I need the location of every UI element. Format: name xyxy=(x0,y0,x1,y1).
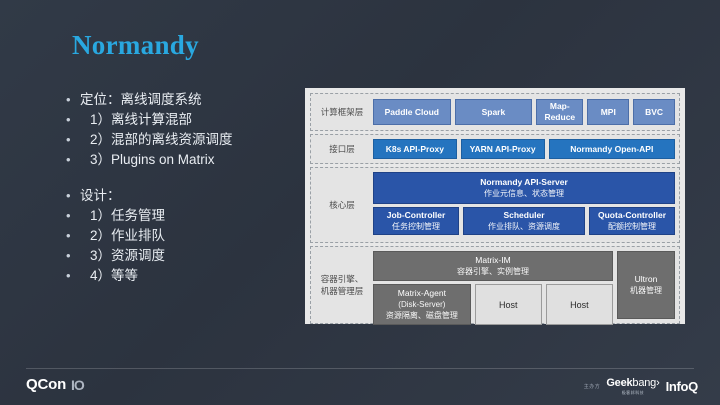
diagram-box-normandy-api-server: Normandy API-Server 作业元信息、状态管理 xyxy=(373,172,675,204)
box-label: K8s API-Proxy xyxy=(386,144,444,155)
box-label: Map-Reduce xyxy=(539,101,580,123)
diagram-box-matrix-im: Matrix-IM 容器引擎、实例管理 xyxy=(373,251,613,281)
box-sublabel: 作业元信息、状态管理 xyxy=(484,188,564,199)
bullet-dot-icon: • xyxy=(66,226,80,246)
box-label: Paddle Cloud xyxy=(385,107,439,118)
geekbang-wordmark-suffix: bang› xyxy=(632,377,659,389)
bullet-group-positioning: • 定位：离线调度系统 • 1）离线计算混部 • 2）混部的离线资源调度 • 3… xyxy=(66,90,306,170)
list-item: • 2）混部的离线资源调度 xyxy=(66,130,306,150)
box-sublabel: 任务控制管理 xyxy=(392,221,440,232)
box-label: Ultron xyxy=(635,274,658,285)
bullet-dot-icon: • xyxy=(66,266,80,286)
bullet-group-design: • 设计： • 1）任务管理 • 2）作业排队 • 3）资源调度 • 4）等等 xyxy=(66,186,306,286)
diagram-box-paddle-cloud: Paddle Cloud xyxy=(373,99,451,125)
diagram-layer-interface: 接口层 K8s API-Proxy YARN API-Proxy Normand… xyxy=(310,134,680,164)
bullet-dot-icon: • xyxy=(66,246,80,266)
diagram-box-job-controller: Job-Controller 任务控制管理 xyxy=(373,207,459,235)
box-label: Job-Controller xyxy=(387,210,446,221)
bullet-dot-icon: • xyxy=(66,130,80,150)
list-item: • 3）资源调度 xyxy=(66,246,306,266)
sponsor-logos: 主办方 Geekbang› 极客邦科技 InfoQ xyxy=(584,377,698,396)
box-label: BVC xyxy=(645,107,663,118)
layer-label: 计算框架层 xyxy=(311,94,373,130)
list-item: • 1）离线计算混部 xyxy=(66,110,306,130)
list-item-label: 1）任务管理 xyxy=(80,206,165,226)
qcon-wordmark: QCon xyxy=(26,376,66,393)
geekbang-sublabel: 极客邦科技 xyxy=(622,390,645,396)
box-label: Normandy Open-API xyxy=(570,144,653,155)
diagram-layer-compute-framework: 计算框架层 Paddle Cloud Spark Map-Reduce MPI xyxy=(310,93,680,131)
list-item: • 4）等等 xyxy=(66,266,306,286)
list-item: • 定位：离线调度系统 xyxy=(66,90,306,110)
box-sublabel: 配额控制管理 xyxy=(608,221,656,232)
layer-label-line2: 机器管理层 xyxy=(321,286,364,296)
bullet-dot-icon: • xyxy=(66,206,80,226)
diagram-box-bvc: BVC xyxy=(633,99,675,125)
bullet-dot-icon: • xyxy=(66,90,80,110)
diagram-box-quota-controller: Quota-Controller 配额控制管理 xyxy=(589,207,675,235)
list-item-label: 3）资源调度 xyxy=(80,246,165,266)
geekbang-wordmark: Geek xyxy=(606,377,632,389)
list-item-label: 定位：离线调度系统 xyxy=(80,90,202,110)
box-sublabel: 资源隔离、磁盘管理 xyxy=(386,310,458,321)
box-sublabel: 机器管理 xyxy=(630,285,662,296)
list-item-label: 2）混部的离线资源调度 xyxy=(80,130,233,150)
diagram-box-map-reduce: Map-Reduce xyxy=(536,99,583,125)
footer-divider xyxy=(26,368,694,369)
list-item: • 2）作业排队 xyxy=(66,226,306,246)
list-item-label: 2）作业排队 xyxy=(80,226,165,246)
bullet-dot-icon: • xyxy=(66,186,80,206)
diagram-box-matrix-agent: Matrix-Agent (Disk-Server) 资源隔离、磁盘管理 xyxy=(373,284,471,325)
list-item-label: 3）Plugins on Matrix xyxy=(80,150,215,170)
slide: Normandy • 定位：离线调度系统 • 1）离线计算混部 • 2）混部的离… xyxy=(0,0,720,405)
qcon-logo: QCon IO xyxy=(26,376,84,393)
diagram-box-host-2: Host xyxy=(546,284,613,325)
bullet-dot-icon: • xyxy=(66,150,80,170)
list-item-label: 1）离线计算混部 xyxy=(80,110,192,130)
list-item: • 1）任务管理 xyxy=(66,206,306,226)
host-label: 主办方 xyxy=(584,383,601,390)
box-sublabel-disk-server: (Disk-Server) xyxy=(398,299,445,310)
geekbang-logo: Geekbang› 极客邦科技 xyxy=(606,377,659,396)
box-label: Matrix-Agent xyxy=(398,288,446,299)
diagram-layer-core: 核心层 Normandy API-Server 作业元信息、状态管理 Job-C… xyxy=(310,167,680,243)
layer-label: 容器引擎、 机器管理层 xyxy=(311,247,373,323)
diagram-box-scheduler: Scheduler 作业排队、资源调度 xyxy=(463,207,585,235)
diagram-box-host-1: Host xyxy=(475,284,542,325)
box-label: Matrix-IM xyxy=(475,255,510,266)
box-label: Scheduler xyxy=(503,210,544,221)
box-label: YARN API-Proxy xyxy=(470,144,536,155)
list-item: • 3）Plugins on Matrix xyxy=(66,150,306,170)
qcon-io-icon: IO xyxy=(71,377,84,393)
diagram-box-spark: Spark xyxy=(455,99,533,125)
diagram-box-yarn-api-proxy: YARN API-Proxy xyxy=(461,139,545,159)
box-sublabel: 作业排队、资源调度 xyxy=(488,221,560,232)
bullet-dot-icon: • xyxy=(66,110,80,130)
box-sublabel: 容器引擎、实例管理 xyxy=(457,266,529,277)
infoq-logo: InfoQ xyxy=(666,379,698,394)
box-label: Host xyxy=(499,300,518,310)
bullet-list: • 定位：离线调度系统 • 1）离线计算混部 • 2）混部的离线资源调度 • 3… xyxy=(66,90,306,302)
architecture-diagram: 计算框架层 Paddle Cloud Spark Map-Reduce MPI xyxy=(305,88,685,324)
box-label: Spark xyxy=(482,107,506,118)
box-label: Quota-Controller xyxy=(598,210,666,221)
diagram-box-ultron: Ultron 机器管理 xyxy=(617,251,675,319)
box-label: MPI xyxy=(601,107,616,118)
list-item: • 设计： xyxy=(66,186,306,206)
layer-label: 核心层 xyxy=(311,168,373,242)
diagram-box-mpi: MPI xyxy=(587,99,629,125)
page-title: Normandy xyxy=(72,30,199,61)
list-item-label: 4）等等 xyxy=(80,266,138,286)
box-label: Host xyxy=(570,300,589,310)
layer-label: 接口层 xyxy=(311,135,373,163)
diagram-box-normandy-open-api: Normandy Open-API xyxy=(549,139,676,159)
list-item-label: 设计： xyxy=(80,186,121,206)
diagram-box-k8s-api-proxy: K8s API-Proxy xyxy=(373,139,457,159)
layer-label-line1: 容器引擎、 xyxy=(321,274,364,284)
diagram-layer-container-engine: 容器引擎、 机器管理层 Matrix-IM 容器引擎、实例管理 Matrix-A… xyxy=(310,246,680,324)
box-label: Normandy API-Server xyxy=(480,177,568,188)
